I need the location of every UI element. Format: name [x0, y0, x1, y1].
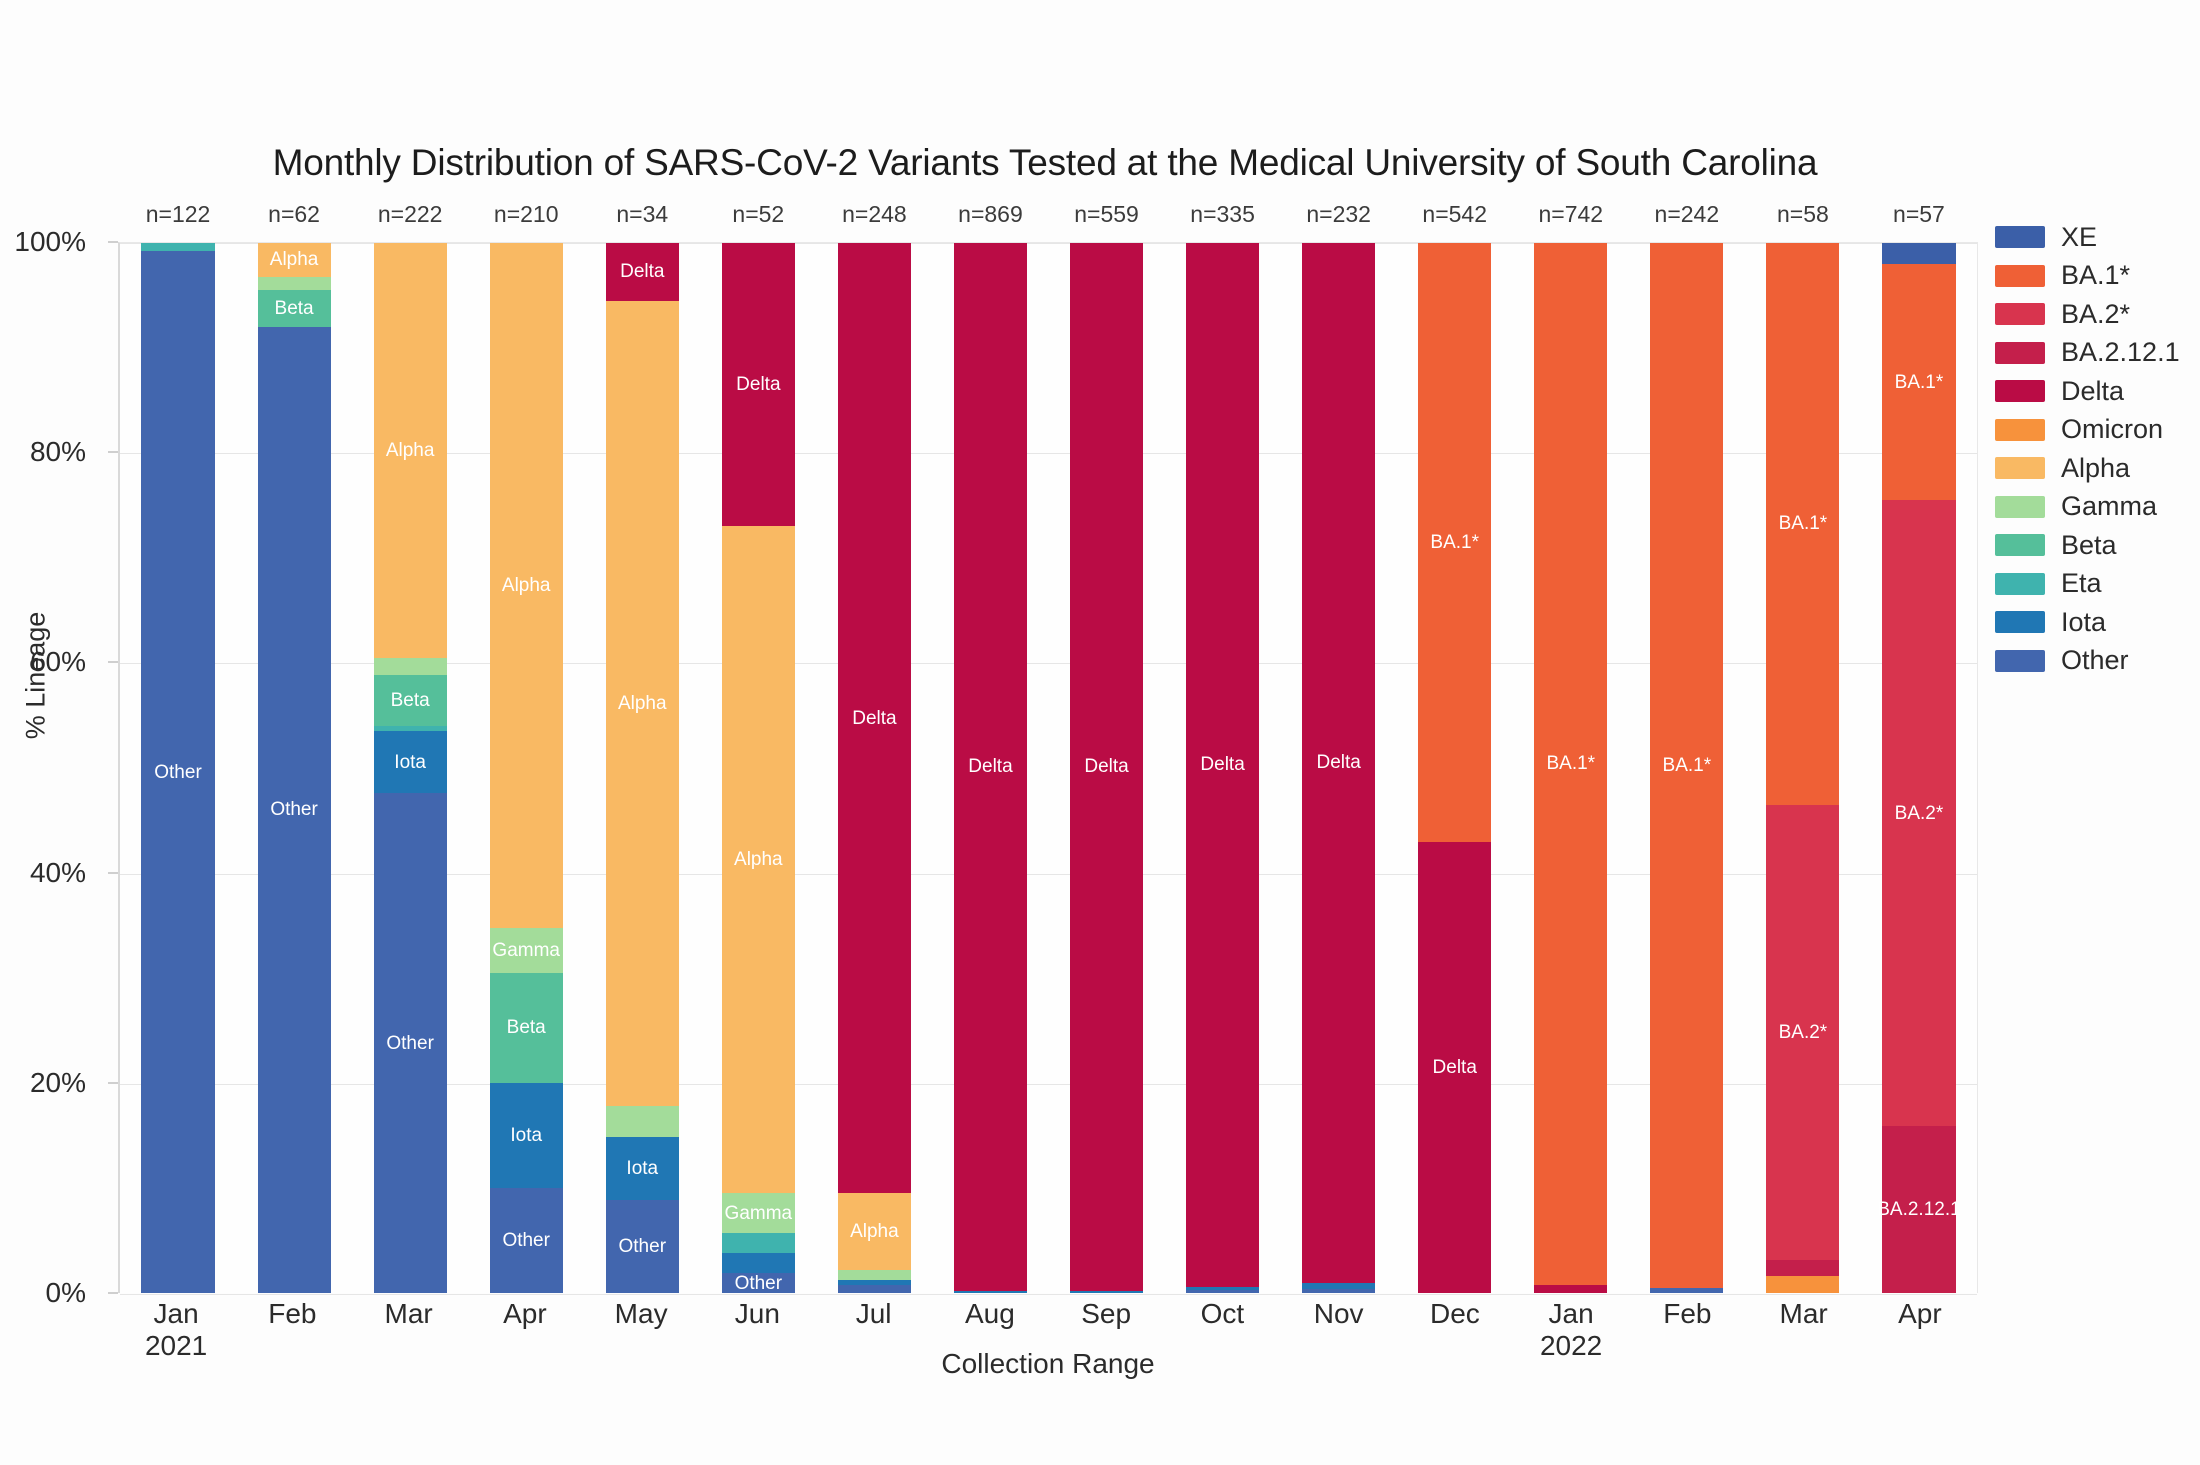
bar-segment-label: Delta	[736, 375, 780, 394]
stacked-bar[interactable]: AlphaBetaOthern=62	[258, 243, 331, 1293]
stacked-bar[interactable]: DeltaAlphaIotaOthern=34	[606, 243, 679, 1293]
bar-column[interactable]: Deltan=232	[1281, 243, 1397, 1293]
legend-color-swatch	[1995, 265, 2045, 287]
sample-size-label: n=62	[258, 201, 331, 228]
legend-color-swatch	[1995, 534, 2045, 556]
bar-segment[interactable]: Beta	[258, 290, 331, 327]
bar-segment[interactable]: Gamma	[490, 928, 563, 973]
legend-item-label: Other	[2061, 645, 2129, 676]
bar-segment-label: Delta	[620, 262, 664, 281]
bar-segment[interactable]: Iota	[606, 1137, 679, 1200]
legend-item[interactable]: Eta	[1995, 565, 2195, 604]
bar-segment[interactable]	[1186, 1290, 1259, 1293]
bar-segment-label: Alpha	[386, 441, 435, 460]
bar-segment-label: BA.1*	[1895, 373, 1944, 392]
bar-segment[interactable]: BA.2*	[1882, 500, 1955, 1126]
bar-segment-label: BA.1*	[1779, 514, 1828, 533]
y-axis-tick-mark	[108, 872, 118, 874]
bar-segment[interactable]	[722, 1253, 795, 1273]
legend-item-label: BA.1*	[2061, 260, 2130, 291]
x-axis-tick-month: Mar	[385, 1298, 433, 1329]
bar-segment-label: Delta	[1433, 1058, 1477, 1077]
bar-segment[interactable]: Delta	[838, 243, 911, 1193]
bar-column[interactable]: BA.1*n=242	[1629, 243, 1745, 1293]
legend-item-label: Delta	[2061, 376, 2124, 407]
bar-segment[interactable]: BA.1*	[1418, 243, 1491, 842]
bar-segment-label: BA.1*	[1546, 754, 1595, 773]
x-axis-tick-month: Apr	[503, 1298, 547, 1329]
legend-item-label: Gamma	[2061, 491, 2157, 522]
legend-color-swatch	[1995, 303, 2045, 325]
bar-segment[interactable]: Delta	[954, 243, 1027, 1291]
bar-segment[interactable]: BA.2.12.1	[1882, 1126, 1955, 1293]
legend-item-label: Beta	[2061, 530, 2117, 561]
x-axis-tick-month: Nov	[1314, 1298, 1364, 1329]
y-axis-tick-label: 0%	[46, 1277, 86, 1309]
bar-segment-label: BA.2*	[1779, 1023, 1828, 1042]
gridline	[120, 1294, 1977, 1295]
legend-color-swatch	[1995, 611, 2045, 633]
legend-color-swatch	[1995, 496, 2045, 518]
bar-column[interactable]: Othern=122	[120, 243, 236, 1293]
y-axis-tick-label: 20%	[30, 1067, 86, 1099]
bar-column[interactable]: Deltan=335	[1165, 243, 1281, 1293]
legend-color-swatch	[1995, 342, 2045, 364]
stacked-bar[interactable]: BA.1*Deltan=542	[1418, 243, 1491, 1293]
bar-segment-label: Other	[386, 1034, 434, 1053]
y-axis-tick-mark	[108, 1292, 118, 1294]
bar-column[interactable]: DeltaAlphaIotaOthern=34	[584, 243, 700, 1293]
x-axis-tick-month: Jul	[856, 1298, 892, 1329]
bar-segment[interactable]	[1766, 1260, 1839, 1276]
bar-segment[interactable]	[954, 1291, 1027, 1293]
y-axis-tick-label: 80%	[30, 436, 86, 468]
stacked-bar[interactable]: Deltan=559	[1070, 243, 1143, 1293]
bar-segment[interactable]: Iota	[490, 1083, 563, 1188]
bar-segment[interactable]: Delta	[606, 243, 679, 301]
bar-segment[interactable]: BA.2*	[1766, 805, 1839, 1261]
legend-color-swatch	[1995, 380, 2045, 402]
x-axis-tick-month: Feb	[268, 1298, 316, 1329]
bar-segment[interactable]: BA.1*	[1534, 243, 1607, 1285]
bar-segment[interactable]: Beta	[374, 675, 447, 726]
stacked-bar[interactable]: BA.1*BA.2*n=58	[1766, 243, 1839, 1293]
x-axis-tick-month: Jan	[1549, 1298, 1594, 1329]
x-axis-tick-month: Oct	[1201, 1298, 1245, 1329]
bar-segment-label: Other	[502, 1231, 550, 1250]
bar-segment-label: BA.1*	[1663, 756, 1712, 775]
legend-item-label: Iota	[2061, 607, 2106, 638]
bar-segment-label: Other	[735, 1274, 783, 1293]
bar-segment-label: Delta	[1316, 753, 1360, 772]
x-axis-tick-month: Aug	[965, 1298, 1015, 1329]
bar-segment-label: BA.1*	[1430, 533, 1479, 552]
bar-segment[interactable]	[258, 277, 331, 291]
x-axis-tick-month: May	[615, 1298, 668, 1329]
bar-segment-label: Delta	[1200, 755, 1244, 774]
x-axis-tick-month: Jun	[735, 1298, 780, 1329]
y-axis-tick-mark	[108, 451, 118, 453]
legend-item-label: Omicron	[2061, 414, 2163, 445]
sample-size-label: n=242	[1650, 201, 1723, 228]
bar-segment-label: Delta	[968, 757, 1012, 776]
bar-segment-label: Gamma	[725, 1204, 793, 1223]
bar-segment[interactable]	[722, 1233, 795, 1253]
stacked-bar[interactable]: AlphaGammaBetaIotaOthern=210	[490, 243, 563, 1293]
bar-segment-label: BA.2*	[1895, 804, 1944, 823]
bar-segment[interactable]: Other	[722, 1273, 795, 1293]
legend: XEBA.1*BA.2*BA.2.12.1DeltaOmicronAlphaGa…	[1995, 218, 2195, 680]
bar-segment[interactable]	[141, 243, 214, 251]
sample-size-label: n=222	[374, 201, 447, 228]
bar-segment-label: Beta	[275, 299, 314, 318]
stacked-bar[interactable]: AlphaBetaIotaOthern=222	[374, 243, 447, 1293]
legend-item[interactable]: Iota	[1995, 603, 2195, 642]
bar-segment[interactable]	[1766, 1276, 1839, 1293]
legend-item[interactable]: Omicron	[1995, 411, 2195, 450]
stacked-bar[interactable]: DeltaAlphan=248	[838, 243, 911, 1293]
bar-segment-label: Iota	[626, 1159, 658, 1178]
bar-segment[interactable]: Gamma	[722, 1193, 795, 1233]
bar-segment[interactable]: Other	[141, 251, 214, 1293]
bar-segment[interactable]: Delta	[1186, 243, 1259, 1287]
bar-segment[interactable]	[1302, 1289, 1375, 1293]
sample-size-label: n=52	[722, 201, 795, 228]
bar-segment[interactable]	[1882, 243, 1955, 264]
plot-area: Othern=122AlphaBetaOthern=62AlphaBetaIot…	[118, 242, 1978, 1293]
bar-segment[interactable]: Alpha	[258, 243, 331, 277]
bar-segment-label: Alpha	[618, 694, 667, 713]
bar-segment[interactable]: Other	[258, 327, 331, 1293]
stacked-bar[interactable]: Deltan=335	[1186, 243, 1259, 1293]
x-axis-tick-month: Dec	[1430, 1298, 1480, 1329]
legend-color-swatch	[1995, 457, 2045, 479]
bar-segment[interactable]: Beta	[490, 973, 563, 1083]
legend-item-label: XE	[2061, 222, 2097, 253]
bar-column[interactable]: BA.1*BA.2*BA.2.12.1n=57	[1861, 243, 1977, 1293]
stacked-bar[interactable]: DeltaAlphaGammaOthern=52	[722, 243, 795, 1293]
y-axis-tick-mark	[108, 241, 118, 243]
bar-segment[interactable]	[1650, 1288, 1723, 1293]
x-axis-tick-month: Apr	[1898, 1298, 1942, 1329]
legend-item[interactable]: Alpha	[1995, 449, 2195, 488]
stacked-bar[interactable]: BA.1*n=742	[1534, 243, 1607, 1293]
bar-group: Othern=122AlphaBetaOthern=62AlphaBetaIot…	[120, 243, 1977, 1293]
bar-segment[interactable]: Alpha	[374, 243, 447, 658]
bar-segment-label: Other	[619, 1237, 667, 1256]
stacked-bar[interactable]: BA.1*n=242	[1650, 243, 1723, 1293]
y-axis-tick-mark	[108, 661, 118, 663]
stacked-bar[interactable]: Deltan=869	[954, 243, 1027, 1293]
legend-item[interactable]: XE	[1995, 218, 2195, 257]
sample-size-label: n=742	[1534, 201, 1607, 228]
bar-segment-label: Alpha	[502, 576, 551, 595]
sample-size-label: n=58	[1766, 201, 1839, 228]
bar-segment[interactable]	[606, 1106, 679, 1136]
bar-segment-label: Other	[270, 800, 318, 819]
sample-size-label: n=122	[141, 201, 214, 228]
legend-color-swatch	[1995, 226, 2045, 248]
bar-segment[interactable]: Other	[374, 793, 447, 1293]
legend-color-swatch	[1995, 419, 2045, 441]
bar-segment-label: Gamma	[492, 941, 560, 960]
legend-item[interactable]: Beta	[1995, 526, 2195, 565]
legend-item[interactable]: Gamma	[1995, 488, 2195, 527]
bar-column[interactable]: BA.1*Deltan=542	[1397, 243, 1513, 1293]
y-axis-tick-label: 40%	[30, 857, 86, 889]
y-axis-tick-labels: 0%20%40%60%80%100%	[0, 242, 100, 1293]
bar-segment[interactable]: Other	[606, 1200, 679, 1293]
sample-size-label: n=232	[1302, 201, 1375, 228]
bar-segment[interactable]: Alpha	[606, 301, 679, 1106]
bar-segment-label: Other	[154, 763, 202, 782]
legend-item[interactable]: BA.1*	[1995, 257, 2195, 296]
bar-segment[interactable]	[1070, 1291, 1143, 1293]
bar-segment-label: Alpha	[850, 1222, 899, 1241]
stacked-bar[interactable]: BA.1*BA.2*BA.2.12.1n=57	[1882, 243, 1955, 1293]
legend-item[interactable]: Delta	[1995, 372, 2195, 411]
stacked-bar[interactable]: Othern=122	[141, 243, 214, 1293]
bar-segment-label: Iota	[394, 753, 426, 772]
sample-size-label: n=57	[1882, 201, 1955, 228]
x-axis-tick-month: Mar	[1780, 1298, 1828, 1329]
legend-item-label: BA.2.12.1	[2061, 337, 2180, 368]
legend-item[interactable]: Other	[1995, 642, 2195, 681]
bar-segment[interactable]	[374, 658, 447, 675]
bar-column[interactable]: DeltaAlphan=248	[816, 243, 932, 1293]
sample-size-label: n=559	[1070, 201, 1143, 228]
bar-column[interactable]: BA.1*BA.2*n=58	[1745, 243, 1861, 1293]
bar-segment[interactable]: BA.1*	[1766, 243, 1839, 805]
x-axis-tick-month: Sep	[1081, 1298, 1131, 1329]
bar-segment[interactable]: Alpha	[490, 243, 563, 928]
bar-column[interactable]: Deltan=869	[932, 243, 1048, 1293]
legend-color-swatch	[1995, 650, 2045, 672]
bar-segment-label: Delta	[1084, 757, 1128, 776]
bar-segment-label: Beta	[507, 1018, 546, 1037]
bar-segment[interactable]: BA.1*	[1650, 243, 1723, 1288]
sample-size-label: n=248	[838, 201, 911, 228]
page-title: Monthly Distribution of SARS-CoV-2 Varia…	[120, 142, 1970, 184]
bar-segment-label: BA.2.12.1	[1877, 1200, 1960, 1219]
bar-segment[interactable]: Iota	[374, 731, 447, 793]
bar-segment[interactable]: Alpha	[838, 1193, 911, 1270]
bar-segment-label: Delta	[852, 709, 896, 728]
sample-size-label: n=335	[1186, 201, 1259, 228]
y-axis-tick-mark	[108, 1082, 118, 1084]
bar-segment[interactable]: Delta	[1418, 842, 1491, 1294]
legend-color-swatch	[1995, 573, 2045, 595]
bar-column[interactable]: AlphaGammaBetaIotaOthern=210	[468, 243, 584, 1293]
bar-segment[interactable]: Delta	[1302, 243, 1375, 1283]
chart-figure: Monthly Distribution of SARS-CoV-2 Varia…	[0, 0, 2200, 1465]
legend-item-label: BA.2*	[2061, 299, 2130, 330]
x-axis-tick-month: Feb	[1663, 1298, 1711, 1329]
legend-item-label: Alpha	[2061, 453, 2130, 484]
x-axis-tick-month: Jan	[154, 1298, 199, 1329]
legend-item[interactable]: BA.2*	[1995, 295, 2195, 334]
bar-segment[interactable]	[838, 1285, 911, 1293]
bar-segment-label: Alpha	[734, 850, 783, 869]
bar-segment-label: Beta	[391, 691, 430, 710]
bar-segment[interactable]	[838, 1270, 911, 1280]
x-axis-title: Collection Range	[118, 1348, 1978, 1380]
sample-size-label: n=210	[490, 201, 563, 228]
legend-item-label: Eta	[2061, 568, 2102, 599]
sample-size-label: n=542	[1418, 201, 1491, 228]
bar-segment[interactable]: Other	[490, 1188, 563, 1293]
bar-column[interactable]: DeltaAlphaGammaOthern=52	[700, 243, 816, 1293]
sample-size-label: n=34	[606, 201, 679, 228]
bar-column[interactable]: AlphaBetaOthern=62	[236, 243, 352, 1293]
bar-segment[interactable]: BA.1*	[1882, 264, 1955, 500]
y-axis-tick-label: 100%	[14, 226, 86, 258]
bar-segment[interactable]: Alpha	[722, 526, 795, 1193]
bar-segment[interactable]	[1534, 1285, 1607, 1293]
bar-column[interactable]: BA.1*n=742	[1513, 243, 1629, 1293]
stacked-bar[interactable]: Deltan=232	[1302, 243, 1375, 1293]
bar-column[interactable]: Deltan=559	[1049, 243, 1165, 1293]
bar-column[interactable]: AlphaBetaIotaOthern=222	[352, 243, 468, 1293]
y-axis-tick-label: 60%	[30, 646, 86, 678]
bar-segment-label: Alpha	[270, 250, 319, 269]
legend-item[interactable]: BA.2.12.1	[1995, 334, 2195, 373]
bar-segment[interactable]: Delta	[1070, 243, 1143, 1291]
bar-segment-label: Iota	[510, 1126, 542, 1145]
sample-size-label: n=869	[954, 201, 1027, 228]
bar-segment[interactable]: Delta	[722, 243, 795, 527]
